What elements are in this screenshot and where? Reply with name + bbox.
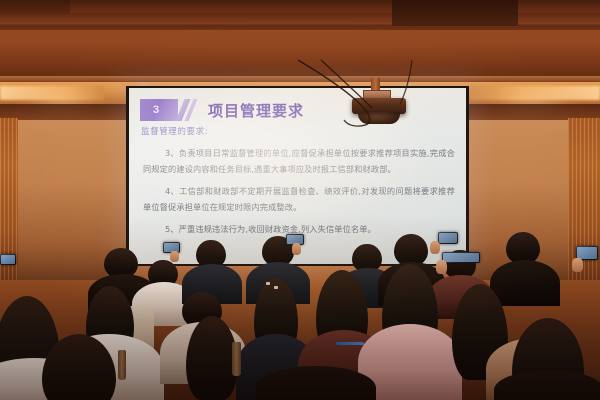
slide-title-row: 3 项目管理要求 [140, 99, 380, 121]
water-bottle [118, 350, 126, 380]
raised-hand [436, 260, 447, 274]
wood-ceiling [0, 0, 600, 82]
smartphone-screen [443, 253, 479, 262]
smartphone-screen [577, 247, 597, 259]
slide-title: 项目管理要求 [208, 100, 304, 121]
raised-hand [170, 251, 179, 262]
lanyard [336, 342, 364, 345]
raised-hand [572, 258, 583, 272]
presentation-room-photo: 3 项目管理要求 监督管理的要求: 3、负责项目日常监督管理的单位,应督促承担单… [0, 0, 600, 400]
slide-number-block: 3 [140, 99, 178, 121]
smartphone [442, 252, 480, 263]
smartphone [438, 232, 458, 244]
slide-paragraph-3: 3、负责项目日常监督管理的单位,应督促承担单位按要求推荐项目实施,完成合同规定的… [143, 146, 455, 177]
raised-hand [292, 243, 301, 255]
smartphone [0, 254, 16, 265]
hair-clip [266, 282, 270, 285]
slide-subtitle: 监督管理的要求: [141, 125, 208, 137]
audience-shoulders [490, 260, 560, 306]
projector-lens [358, 112, 400, 124]
smartphone-screen [1, 255, 15, 264]
smartphone-screen [439, 233, 457, 243]
slide-paragraph-4: 4、工信部和财政部不定期开展监督检查、绩效评价,对发现的问题将要求推荐单位督促承… [143, 184, 455, 215]
ceiling-beam [0, 30, 600, 64]
slide-number: 3 [153, 102, 159, 118]
raised-hand [430, 241, 440, 254]
ceiling-vent-left [0, 0, 70, 14]
audience-row [0, 230, 600, 400]
ceiling-vent-right [392, 0, 518, 27]
hair-clip [274, 286, 278, 289]
water-bottle [232, 342, 241, 376]
left-wall-dark-band [0, 104, 126, 120]
